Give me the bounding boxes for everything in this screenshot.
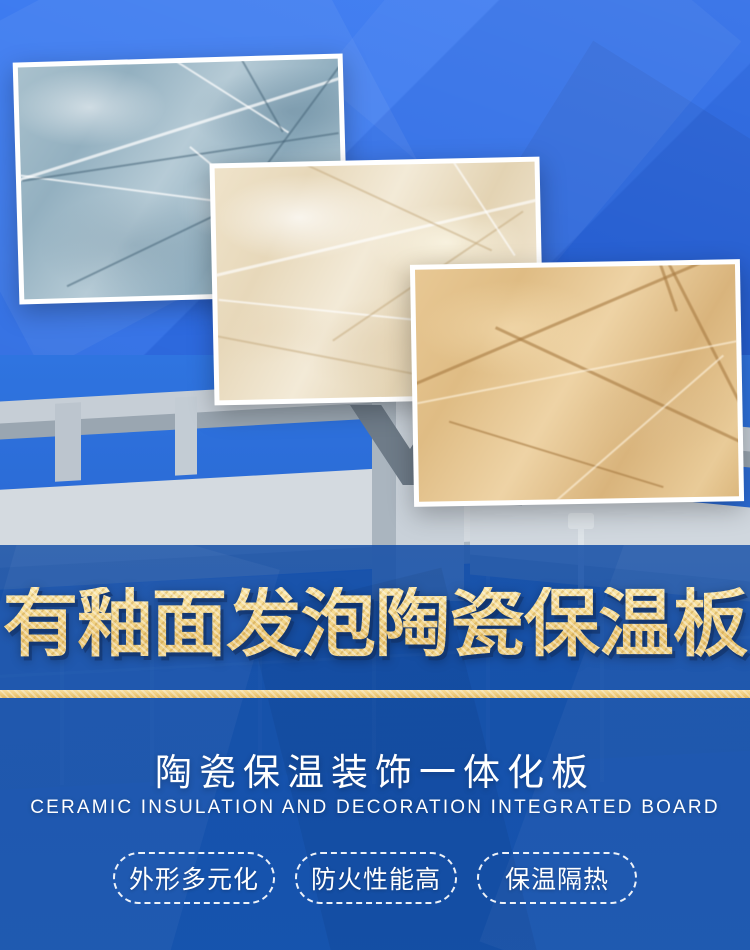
tile-texture: [415, 264, 739, 502]
building-pillar: [55, 402, 81, 481]
golden-marble-tile[interactable]: [410, 259, 744, 507]
product-promo-banner: 有釉面发泡陶瓷保温板 陶瓷保温装饰一体化板 CERAMIC INSULATION…: [0, 0, 750, 950]
page-title: 有釉面发泡陶瓷保温板: [3, 587, 748, 661]
building-pillar: [175, 396, 197, 475]
feature-badge-3[interactable]: 保温隔热: [477, 852, 637, 904]
banner-title-container: 有釉面发泡陶瓷保温板: [0, 578, 750, 670]
feature-badge-1[interactable]: 外形多元化: [113, 852, 275, 904]
subtitle-chinese: 陶瓷保温装饰一体化板: [0, 742, 750, 796]
feature-badge-list: 外形多元化 防火性能高 保温隔热: [0, 852, 750, 904]
subtitle-english: CERAMIC INSULATION AND DECORATION INTEGR…: [0, 797, 750, 819]
gold-divider: [0, 690, 750, 698]
light-fixture: [568, 513, 594, 529]
feature-badge-2[interactable]: 防火性能高: [295, 852, 457, 904]
